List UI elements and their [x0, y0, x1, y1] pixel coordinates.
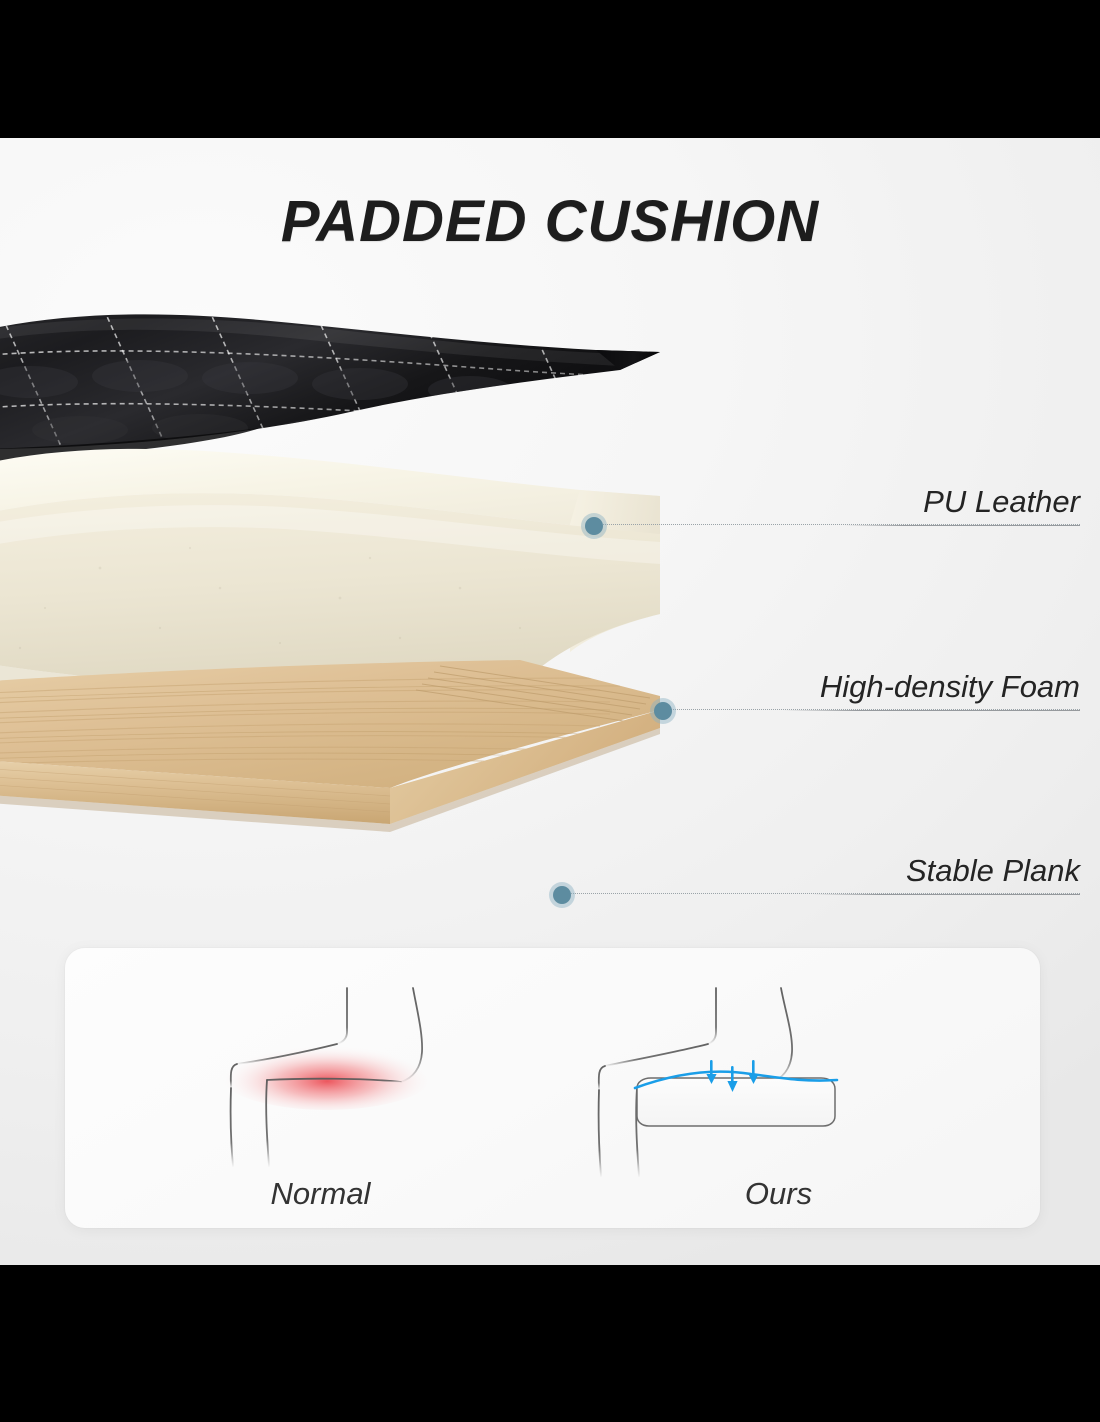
comparison-ours: Ours: [553, 948, 1040, 1228]
callout-underline: [812, 894, 1080, 895]
callout-label-high-density-foam: High-density Foam: [820, 669, 1080, 705]
page-title: PADDED CUSHION: [0, 188, 1100, 255]
callout-stable-plank: Stable Plank: [562, 825, 1080, 895]
letterbox-bottom: [0, 1265, 1100, 1422]
comparison-caption-ours: Ours: [535, 1176, 1022, 1212]
comparison-caption-normal: Normal: [77, 1176, 564, 1212]
callout-underline: [783, 710, 1080, 711]
infographic-stage: PADDED CUSHION: [0, 0, 1100, 1422]
comparison-normal: Normal: [65, 948, 552, 1228]
cushion-body: [637, 1078, 835, 1126]
letterbox-top: [0, 0, 1100, 138]
callout-label-pu-leather: PU Leather: [923, 484, 1080, 520]
callout-underline: [844, 525, 1080, 526]
comparison-panel: Normal: [65, 948, 1040, 1228]
infographic-content: PADDED CUSHION: [0, 138, 1100, 1265]
dot-marker-icon: [553, 886, 571, 904]
pressure-hotspot: [219, 1038, 435, 1110]
callout-label-stable-plank: Stable Plank: [906, 853, 1080, 889]
callout-high-density-foam: High-density Foam: [663, 641, 1080, 711]
callout-pu-leather: PU Leather: [594, 456, 1080, 526]
dot-marker-icon: [654, 702, 672, 720]
dot-marker-icon: [585, 517, 603, 535]
